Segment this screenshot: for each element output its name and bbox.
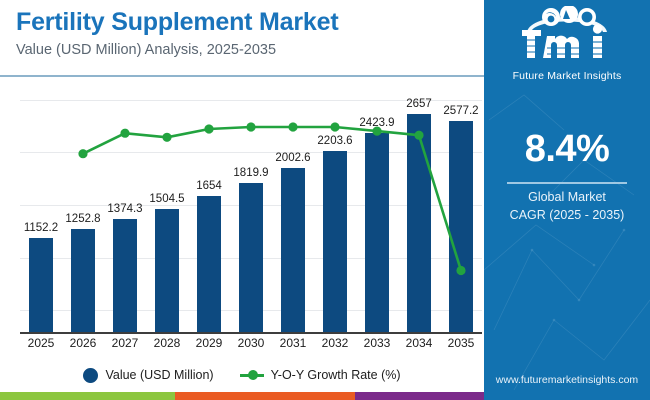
x-axis-tick-label: 2033 (356, 336, 398, 350)
x-axis-tick-label: 2031 (272, 336, 314, 350)
legend-value-marker-icon (83, 368, 98, 383)
growth-rate-point[interactable] (204, 124, 213, 133)
plot-area: 1152.21252.81374.31504.516541819.92002.6… (20, 86, 482, 332)
x-axis-tick-label: 2028 (146, 336, 188, 350)
growth-rate-point[interactable] (246, 122, 255, 131)
x-axis-tick-label: 2025 (20, 336, 62, 350)
legend-item-label: Y-O-Y Growth Rate (%) (271, 368, 401, 382)
growth-rate-point[interactable] (330, 122, 339, 131)
cagr-label-line2: CAGR (2025 - 2035) (484, 208, 650, 222)
x-axis-tick-label: 2035 (440, 336, 482, 350)
header-divider (0, 75, 484, 77)
chart-legend: Value (USD Million) Y-O-Y Growth Rate (%… (0, 364, 484, 386)
cagr-label-line1: Global Market (484, 190, 650, 204)
stripe-green (0, 392, 175, 400)
footer-stripes (0, 392, 484, 400)
x-axis-tick-label: 2029 (188, 336, 230, 350)
infographic-root: Fertility Supplement Market Value (USD M… (0, 0, 650, 400)
growth-rate-point[interactable] (288, 122, 297, 131)
x-axis-tick-label: 2026 (62, 336, 104, 350)
legend-item-value[interactable]: Value (USD Million) (83, 368, 213, 383)
logo-caption: Future Market Insights (484, 70, 650, 82)
x-axis-line (20, 332, 482, 334)
x-axis-tick-label: 2032 (314, 336, 356, 350)
growth-rate-point[interactable] (78, 149, 87, 158)
stripe-orange (175, 392, 355, 400)
x-axis-tick-label: 2030 (230, 336, 272, 350)
growth-rate-point[interactable] (372, 127, 381, 136)
stripe-purple (355, 392, 484, 400)
x-axis-labels: 2025202620272028202920302031203220332034… (20, 336, 482, 356)
x-axis-tick-label: 2034 (398, 336, 440, 350)
legend-item-label: Value (USD Million) (105, 368, 213, 382)
website-url[interactable]: www.futuremarketinsights.com (484, 374, 650, 386)
brand-panel: Future Market Insights 8.4% Global Marke… (484, 0, 650, 400)
cagr-divider (507, 182, 627, 184)
x-axis-tick-label: 2027 (104, 336, 146, 350)
growth-rate-point[interactable] (120, 129, 129, 138)
fmi-logo-icon (505, 6, 629, 68)
chart-header: Fertility Supplement Market Value (USD M… (0, 0, 484, 76)
growth-rate-point[interactable] (414, 131, 423, 140)
legend-growth-marker-icon (240, 374, 264, 377)
page-title: Fertility Supplement Market (16, 8, 338, 37)
page-subtitle: Value (USD Million) Analysis, 2025-2035 (16, 42, 276, 58)
growth-rate-line (20, 86, 482, 332)
legend-item-growth-rate[interactable]: Y-O-Y Growth Rate (%) (240, 368, 401, 382)
chart-panel: Fertility Supplement Market Value (USD M… (0, 0, 484, 400)
cagr-value: 8.4% (484, 128, 650, 171)
growth-rate-point[interactable] (162, 133, 171, 142)
growth-rate-point[interactable] (456, 266, 465, 275)
brand-logo: Future Market Insights (484, 6, 650, 82)
